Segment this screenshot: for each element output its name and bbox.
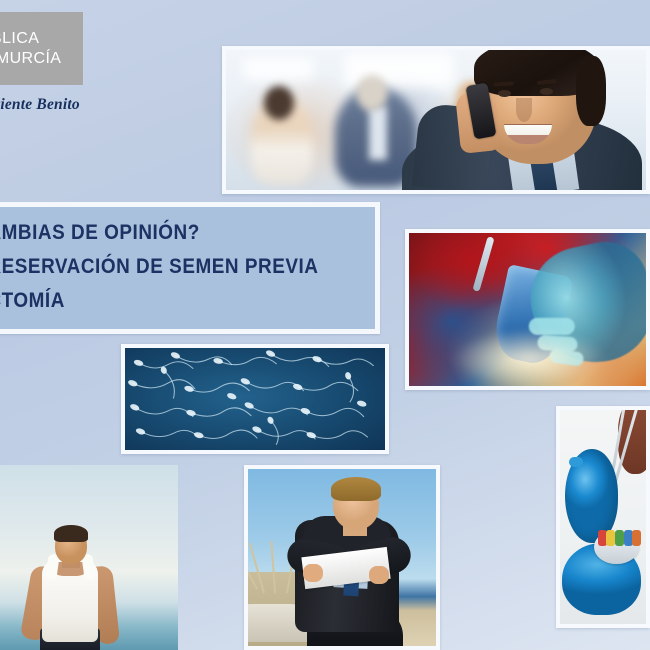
sample-cane-orange	[632, 530, 641, 546]
athlete-figure	[28, 532, 112, 650]
man-eye-left	[498, 90, 511, 97]
man-hair	[474, 50, 600, 96]
reader-figure	[273, 478, 423, 646]
title-line-3: CTOMÍA	[0, 283, 319, 317]
nitrogen-vapour	[428, 319, 632, 386]
reader-hand-left	[303, 564, 323, 582]
author-name: e la Torriente Benito	[0, 96, 80, 114]
title-line-1: AMBIAS DE OPINIÓN?	[0, 215, 319, 249]
photo-businessman-on-mobile-phone	[222, 46, 650, 194]
office-scene	[226, 50, 646, 190]
dunes-scene	[248, 469, 436, 646]
reader-hair	[331, 477, 381, 501]
logo-line-1: PÚBLICA	[0, 29, 83, 49]
spermatozoa-illustration	[125, 348, 385, 450]
tank-scene	[560, 410, 646, 624]
man-eye-right	[540, 88, 553, 95]
window-blur-3	[243, 58, 313, 80]
photo-athletic-man-at-beach	[0, 465, 178, 650]
blurred-colleague-2-shirt	[369, 106, 387, 160]
photo-cryopreservation-tank	[556, 406, 650, 628]
logo-line-2: DE MURCÍA	[0, 49, 83, 69]
blurred-colleague-1-head	[264, 86, 294, 120]
photo-cryogenic-lab-handling	[405, 229, 650, 390]
tank-lid-handle	[569, 457, 583, 467]
man-nose	[516, 98, 532, 122]
micrograph-scene	[125, 348, 385, 450]
photo-sperm-micrograph	[121, 344, 389, 454]
photo-businessman-reading-documents	[244, 465, 440, 650]
lab-scene	[409, 233, 646, 386]
sample-cane-green	[615, 530, 624, 546]
lab-pipette	[473, 236, 495, 292]
title-banner: AMBIAS DE OPINIÓN? RESERVACIÓN DE SEMEN …	[0, 202, 380, 334]
reader-hand-right	[369, 566, 389, 584]
slide-canvas: PÚBLICA DE MURCÍA e la Torriente Benito …	[0, 0, 650, 650]
athlete-hair	[54, 525, 88, 542]
title-line-2: RESERVACIÓN DE SEMEN PREVIA	[0, 249, 319, 283]
institution-logo: PÚBLICA DE MURCÍA	[0, 12, 84, 85]
foreground-man	[392, 50, 642, 190]
beach-scene	[0, 465, 178, 650]
